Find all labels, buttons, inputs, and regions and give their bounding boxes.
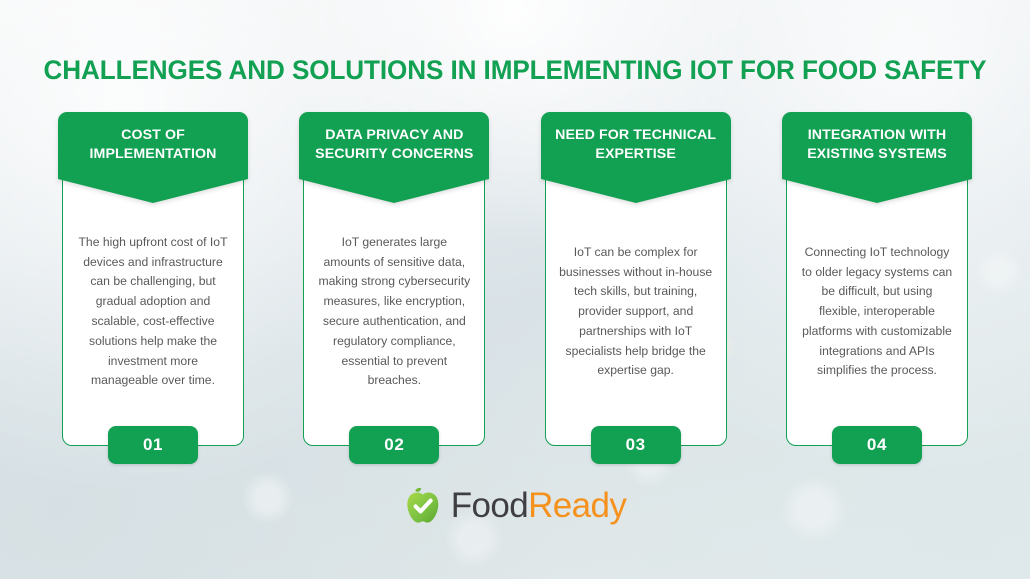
card-header-plate: DATA PRIVACY AND SECURITY CONCERNS [299, 112, 489, 177]
infographic-canvas: CHALLENGES AND SOLUTIONS IN IMPLEMENTING… [0, 0, 1030, 579]
chevron-notch-icon [782, 177, 972, 203]
card-number-badge: 03 [591, 426, 681, 464]
logo-wordmark: FoodReady [451, 486, 627, 526]
card-number: 04 [867, 435, 887, 455]
card-heading: COST OF IMPLEMENTATION [66, 126, 240, 164]
page-title: CHALLENGES AND SOLUTIONS IN IMPLEMENTING… [8, 55, 1023, 86]
card-header: NEED FOR TECHNICAL EXPERTISE [541, 112, 731, 203]
card-header: DATA PRIVACY AND SECURITY CONCERNS [299, 112, 489, 203]
card-number-badge: 01 [108, 426, 198, 464]
card-header-plate: COST OF IMPLEMENTATION [58, 112, 248, 177]
card-heading: NEED FOR TECHNICAL EXPERTISE [549, 126, 723, 164]
card-number-badge: 04 [832, 426, 922, 464]
card-number: 02 [384, 435, 404, 455]
logo-word-ready: Ready [528, 486, 626, 525]
card-body-text: IoT can be complex for businesses withou… [559, 243, 713, 381]
logo-word-food: Food [451, 486, 528, 525]
card-heading: INTEGRATION WITH EXISTING SYSTEMS [790, 126, 964, 164]
card-number: 01 [143, 435, 163, 455]
challenge-card: DATA PRIVACY AND SECURITY CONCERNS IoT g… [303, 112, 485, 446]
card-header-plate: INTEGRATION WITH EXISTING SYSTEMS [782, 112, 972, 177]
card-body-text: The high upfront cost of IoT devices and… [76, 233, 230, 391]
card-header: COST OF IMPLEMENTATION [58, 112, 248, 203]
apple-check-icon [404, 486, 442, 526]
card-body-text: Connecting IoT technology to older legac… [800, 243, 954, 381]
cards-row: COST OF IMPLEMENTATION The high upfront … [62, 112, 968, 446]
brand-logo: FoodReady [0, 486, 1030, 526]
challenge-card: NEED FOR TECHNICAL EXPERTISE IoT can be … [545, 112, 727, 446]
card-header-plate: NEED FOR TECHNICAL EXPERTISE [541, 112, 731, 177]
card-number-badge: 02 [349, 426, 439, 464]
card-header: INTEGRATION WITH EXISTING SYSTEMS [782, 112, 972, 203]
card-body-text: IoT generates large amounts of sensitive… [317, 233, 471, 391]
chevron-notch-icon [541, 177, 731, 203]
card-number: 03 [626, 435, 646, 455]
chevron-notch-icon [58, 177, 248, 203]
challenge-card: COST OF IMPLEMENTATION The high upfront … [62, 112, 244, 446]
card-heading: DATA PRIVACY AND SECURITY CONCERNS [307, 126, 481, 164]
chevron-notch-icon [299, 177, 489, 203]
challenge-card: INTEGRATION WITH EXISTING SYSTEMS Connec… [786, 112, 968, 446]
